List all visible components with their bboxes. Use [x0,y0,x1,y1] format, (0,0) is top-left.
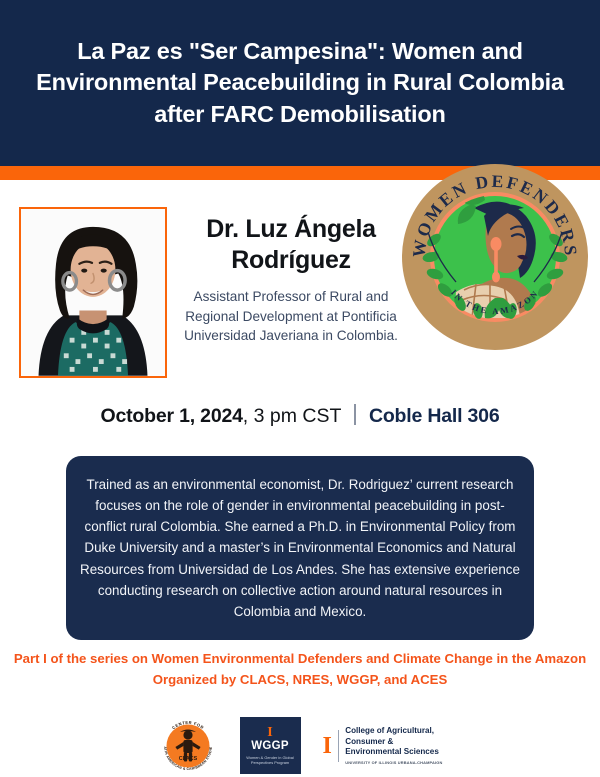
event-poster: La Paz es "Ser Campesina": Women and Env… [0,0,600,777]
event-datetime-venue: October 1, 2024, 3 pm CSTCoble Hall 306 [0,404,600,428]
sponsor-logos: CLACS CENTER FOR LATIN AMERICAN & CARIBB… [0,714,600,777]
clacs-logo: CLACS CENTER FOR LATIN AMERICAN & CARIBB… [158,716,218,776]
clacs-label: CLACS [178,756,197,762]
series-info: Part I of the series on Women Environmen… [0,650,600,687]
speaker-name: Dr. Luz Ángela Rodríguez [176,214,406,275]
illinois-block-i-icon: I [323,734,332,758]
divider [354,404,356,425]
aces-text: College of Agricultural, Consumer & Envi… [345,726,442,765]
page-title: La Paz es "Ser Campesina": Women and Env… [35,36,565,129]
speaker-affiliation: Assistant Professor of Rural and Regiona… [176,287,406,346]
wggp-name: WGGP [251,741,289,753]
speaker-info: Dr. Luz Ángela Rodríguez Assistant Profe… [176,214,406,346]
poster-header: La Paz es "Ser Campesina": Women and Env… [0,0,600,166]
aces-line-3: Environmental Sciences [345,747,442,758]
event-venue: Coble Hall 306 [369,405,500,427]
illinois-block-i-icon: I [267,726,272,740]
speaker-photo [19,207,167,378]
event-time: , 3 pm CST [243,405,342,427]
aces-logo: I College of Agricultural, Consumer & En… [323,726,443,765]
wggp-logo: I WGGP Women & Gender in Global Perspect… [240,717,301,774]
series-title: Part I of the series on Women Environmen… [0,650,600,669]
aces-line-2: Consumer & [345,737,442,748]
divider [338,730,339,762]
women-defenders-badge-logo: WOMEN DEFENDERS IN THE AMAZON [398,160,592,354]
wggp-subtitle: Women & Gender in Global Perspectives Pr… [244,755,296,765]
series-organizers: Organized by CLACS, NRES, WGGP, and ACES [0,672,600,687]
aces-line-1: College of Agricultural, [345,726,442,737]
aces-university: UNIVERSITY OF ILLINOIS URBANA-CHAMPAIGN [345,760,442,765]
event-date: October 1, 2024 [101,405,243,427]
speaker-bio-text: Trained as an environmental economist, D… [66,474,534,622]
speaker-bio-box: Trained as an environmental economist, D… [66,456,534,640]
